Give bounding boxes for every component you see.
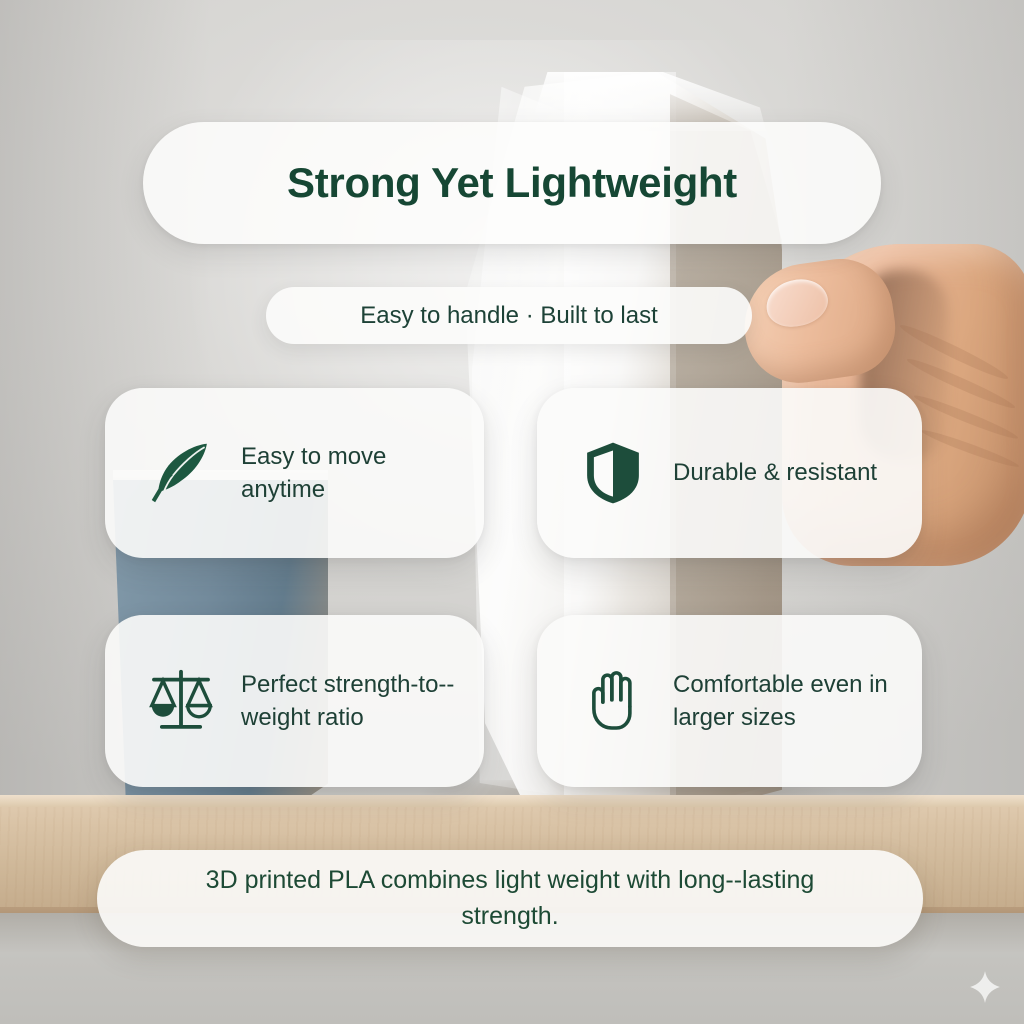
feature-label: Perfect strength-to--weight ratio: [241, 668, 462, 734]
feature-card-easy-to-move[interactable]: Easy to move anytime: [105, 388, 484, 558]
hand-icon: [577, 665, 649, 737]
feather-icon: [145, 437, 217, 509]
product-feature-scene: Strong Yet Lightweight Easy to handle · …: [0, 0, 1024, 1024]
feature-label: Easy to move anytime: [241, 440, 462, 506]
shield-icon: [577, 437, 649, 509]
feature-label: Durable & resistant: [673, 456, 877, 489]
feature-label: Comfortable even in larger sizes: [673, 668, 900, 734]
feature-card-strength-to-weight[interactable]: Perfect strength-to--weight ratio: [105, 615, 484, 787]
subtitle-pill: Easy to handle · Built to last: [266, 287, 752, 344]
sparkle-icon: [968, 970, 1002, 1004]
balance-scales-icon: [145, 665, 217, 737]
feature-card-durable-resistant[interactable]: Durable & resistant: [537, 388, 922, 558]
page-subtitle: Easy to handle · Built to last: [360, 302, 658, 330]
shelf-top-edge: [0, 795, 1024, 807]
footer-pill: 3D printed PLA combines light weight wit…: [97, 850, 923, 947]
feature-card-comfortable-larger-sizes[interactable]: Comfortable even in larger sizes: [537, 615, 922, 787]
footer-caption: 3D printed PLA combines light weight wit…: [160, 863, 860, 934]
title-pill: Strong Yet Lightweight: [143, 122, 881, 244]
page-title: Strong Yet Lightweight: [287, 159, 737, 207]
